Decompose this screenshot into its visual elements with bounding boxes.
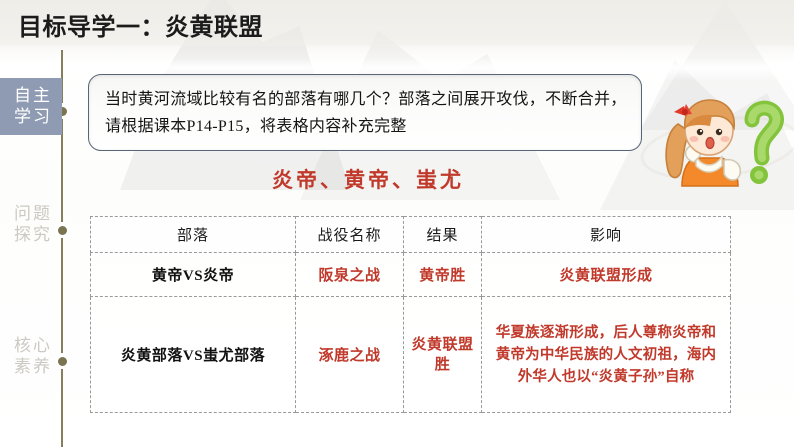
question-callout-box: 当时黄河流域比较有名的部落有哪几个？部落之间展开攻伐，不断合并，请根据课本P14… bbox=[88, 74, 642, 151]
tribes-battles-table: 部落 战役名称 结果 影响 黄帝VS炎帝 阪泉之战 黄帝胜 炎黄联盟形成 炎黄部… bbox=[90, 216, 731, 413]
sidebar-item-label-line1: 问题 bbox=[4, 203, 62, 224]
table-row: 黄帝VS炎帝 阪泉之战 黄帝胜 炎黄联盟形成 bbox=[91, 253, 731, 297]
cell-result: 黄帝胜 bbox=[404, 253, 482, 297]
answer-heading: 炎帝、黄帝、蚩尤 bbox=[88, 164, 648, 194]
page-title: 目标导学一：炎黄联盟 bbox=[18, 7, 263, 42]
cell-impact: 炎黄联盟形成 bbox=[482, 253, 731, 297]
cartoon-girl-with-question-mark-icon bbox=[660, 82, 786, 200]
column-header-impact: 影响 bbox=[482, 217, 731, 253]
cell-impact: 华夏族逐渐形成，后人尊称炎帝和黄帝为中华民族的人文初祖，海内外华人也以“炎黄子孙… bbox=[482, 297, 731, 413]
cell-tribe: 黄帝VS炎帝 bbox=[91, 253, 296, 297]
sidebar-item-label-line2: 素养 bbox=[4, 356, 62, 377]
sidebar-item-core-literacy[interactable]: 核心 素养 bbox=[0, 328, 62, 385]
sidebar-item-label-line2: 学习 bbox=[4, 106, 62, 127]
cell-result: 炎黄联盟胜 bbox=[404, 297, 482, 413]
column-header-battle: 战役名称 bbox=[296, 217, 404, 253]
question-text: 当时黄河流域比较有名的部落有哪几个？部落之间展开攻伐，不断合并，请根据课本P14… bbox=[105, 86, 627, 140]
cell-battle: 阪泉之战 bbox=[296, 253, 404, 297]
column-header-result: 结果 bbox=[404, 217, 482, 253]
sidebar-item-label-line2: 探究 bbox=[4, 224, 62, 245]
cell-battle: 涿鹿之战 bbox=[296, 297, 404, 413]
column-header-tribe: 部落 bbox=[91, 217, 296, 253]
sidebar-item-label-line1: 自主 bbox=[4, 85, 62, 106]
cell-tribe: 炎黄部落VS蚩尤部落 bbox=[91, 297, 296, 413]
table-header-row: 部落 战役名称 结果 影响 bbox=[91, 217, 731, 253]
table-row: 炎黄部落VS蚩尤部落 涿鹿之战 炎黄联盟胜 华夏族逐渐形成，后人尊称炎帝和黄帝为… bbox=[91, 297, 731, 413]
sidebar-item-self-study[interactable]: 自主 学习 bbox=[0, 78, 62, 135]
sidebar-item-label-line1: 核心 bbox=[4, 335, 62, 356]
sidebar-item-inquiry[interactable]: 问题 探究 bbox=[0, 196, 62, 253]
slide-canvas: 目标导学一：炎黄联盟 自主 学习 问题 探究 核心 素养 当时黄河流域比较有名的… bbox=[0, 0, 794, 447]
